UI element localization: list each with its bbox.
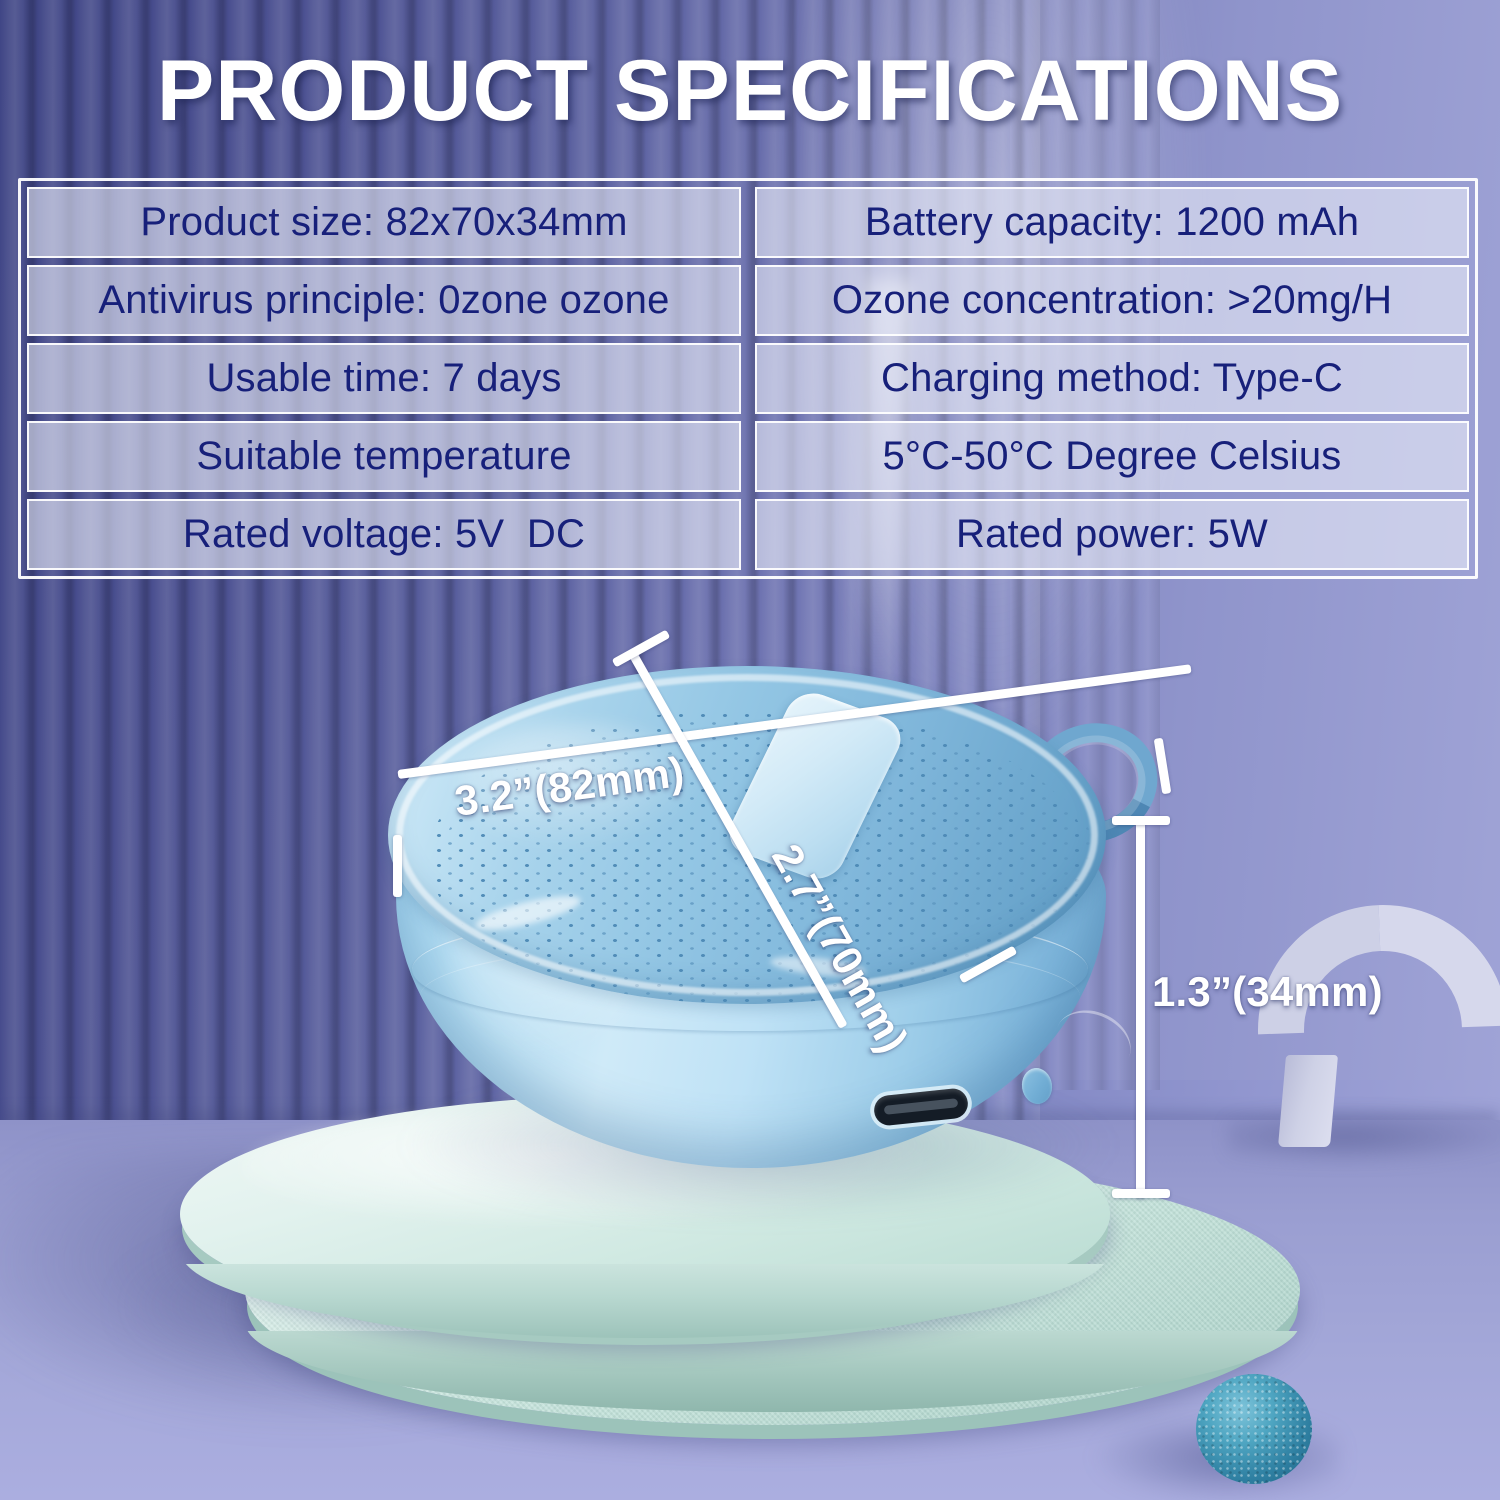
- page-title: PRODUCT SPECIFICATIONS: [0, 42, 1500, 141]
- spec-cell-temperature-range: 5°C-50°C Degree Celsius: [755, 421, 1469, 492]
- spec-cell-ozone-concentration: Ozone concentration: >20mg/H: [755, 265, 1469, 336]
- spec-cell-suitable-temperature: Suitable temperature: [27, 421, 741, 492]
- spec-cell-product-size: Product size: 82x70x34mm: [27, 187, 741, 258]
- dimension-tick-width-start: [393, 835, 402, 897]
- dimension-label-height: 1.3”(34mm): [1152, 968, 1383, 1016]
- decor-ball-texture: [1196, 1374, 1312, 1484]
- arch-prop: [1258, 905, 1500, 1135]
- spec-cell-rated-power: Rated power: 5W: [755, 499, 1469, 570]
- spec-table: Product size: 82x70x34mm Battery capacit…: [18, 178, 1478, 579]
- spec-cell-rated-voltage: Rated voltage: 5V DC: [27, 499, 741, 570]
- decor-ball: [1196, 1374, 1312, 1484]
- spec-cell-charging-method: Charging method: Type-C: [755, 343, 1469, 414]
- spec-cell-battery-capacity: Battery capacity: 1200 mAh: [755, 187, 1469, 258]
- dimension-tick-height-bottom: [1112, 1189, 1170, 1198]
- spec-cell-usable-time: Usable time: 7 days: [27, 343, 741, 414]
- arch-foot: [1278, 1055, 1338, 1147]
- dimension-tick-height-top: [1112, 816, 1170, 825]
- spec-cell-antivirus-principle: Antivirus principle: 0zone ozone: [27, 265, 741, 336]
- product-specifications-page: 3.2”(82mm) 2.7”(70mm) 1.3”(34mm) PRODUCT…: [0, 0, 1500, 1500]
- dimension-line-height: [1136, 820, 1145, 1198]
